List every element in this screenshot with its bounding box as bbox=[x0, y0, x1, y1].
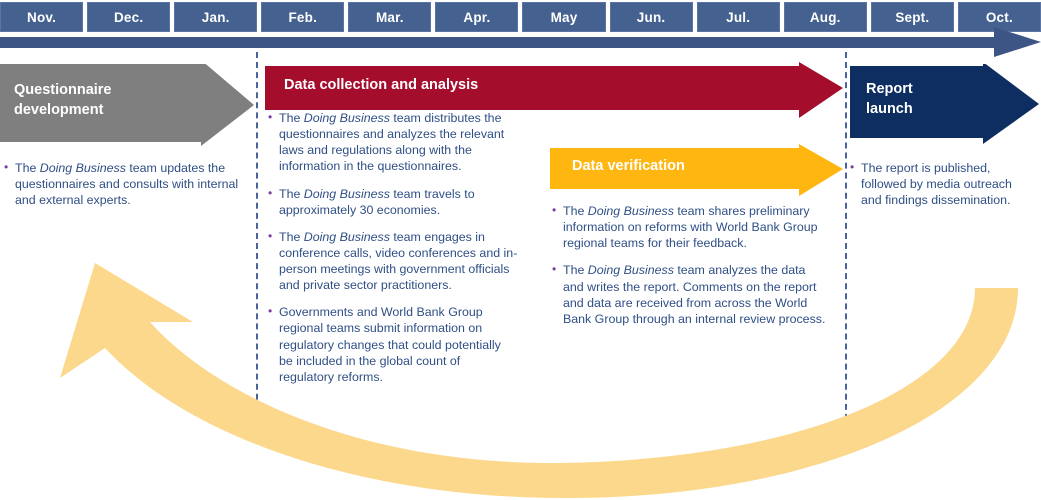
bullet-text: Governments and World Bank Group regiona… bbox=[279, 304, 518, 385]
month-header-row: Nov.Dec.Jan.Feb.Mar.Apr.MayJun.Jul.Aug.S… bbox=[0, 2, 1041, 32]
phase-arrow-report-launch bbox=[850, 64, 1041, 146]
bullet-item: •The Doing Business team updates the que… bbox=[4, 160, 248, 208]
phase-arrow-data-verification bbox=[550, 144, 845, 200]
bullet-text: The Doing Business team shares prelimina… bbox=[563, 203, 827, 251]
month-cell-sept: Sept. bbox=[871, 2, 954, 32]
bullet-dot-icon: • bbox=[552, 262, 563, 327]
phase-bullets-report-launch: •The report is published, followed by me… bbox=[850, 160, 1030, 219]
month-cell-apr: Apr. bbox=[435, 2, 518, 32]
bullet-text: The Doing Business team updates the ques… bbox=[15, 160, 248, 208]
month-cell-jun: Jun. bbox=[610, 2, 693, 32]
bullet-text: The Doing Business team analyzes the dat… bbox=[563, 262, 827, 327]
bullet-item: •The Doing Business team distributes the… bbox=[268, 110, 518, 175]
month-cell-feb: Feb. bbox=[261, 2, 344, 32]
bullet-item: •The Doing Business team shares prelimin… bbox=[552, 203, 827, 251]
bullet-text: The Doing Business team distributes the … bbox=[279, 110, 518, 175]
bullet-item: •Governments and World Bank Group region… bbox=[268, 304, 518, 385]
bullet-text: The report is published, followed by med… bbox=[861, 160, 1030, 208]
bullet-dot-icon: • bbox=[268, 229, 279, 294]
bullet-item: •The Doing Business team analyzes the da… bbox=[552, 262, 827, 327]
bullet-item: •The Doing Business team engages in conf… bbox=[268, 229, 518, 294]
month-cell-dec: Dec. bbox=[87, 2, 170, 32]
bullet-dot-icon: • bbox=[268, 304, 279, 385]
month-cell-may: May bbox=[522, 2, 605, 32]
bullet-text: The Doing Business team travels to appro… bbox=[279, 186, 518, 218]
bullet-dot-icon: • bbox=[850, 160, 861, 208]
bullet-dot-icon: • bbox=[4, 160, 15, 208]
month-cell-nov: Nov. bbox=[0, 2, 83, 32]
timeline-diagram: Nov.Dec.Jan.Feb.Mar.Apr.MayJun.Jul.Aug.S… bbox=[0, 0, 1041, 500]
phase-bullets-data-verification: •The Doing Business team shares prelimin… bbox=[552, 203, 827, 338]
phase-bullets-questionnaire-development: •The Doing Business team updates the que… bbox=[4, 160, 248, 219]
timeline-axis-arrowhead-icon bbox=[994, 27, 1041, 57]
phase-arrow-questionnaire-development bbox=[0, 64, 256, 146]
month-cell-mar: Mar. bbox=[348, 2, 431, 32]
month-cell-aug: Aug. bbox=[784, 2, 867, 32]
phase-bullets-data-collection-and-analysis: •The Doing Business team distributes the… bbox=[268, 110, 518, 396]
bullet-text: The Doing Business team engages in confe… bbox=[279, 229, 518, 294]
month-cell-jan: Jan. bbox=[174, 2, 257, 32]
cycle-repeat-arrow bbox=[0, 250, 1041, 500]
timeline-axis-bar bbox=[0, 37, 1000, 48]
bullet-item: •The Doing Business team travels to appr… bbox=[268, 186, 518, 218]
bullet-dot-icon: • bbox=[268, 110, 279, 175]
bullet-item: •The report is published, followed by me… bbox=[850, 160, 1030, 208]
bullet-dot-icon: • bbox=[268, 186, 279, 218]
bullet-dot-icon: • bbox=[552, 203, 563, 251]
month-cell-jul: Jul. bbox=[697, 2, 780, 32]
